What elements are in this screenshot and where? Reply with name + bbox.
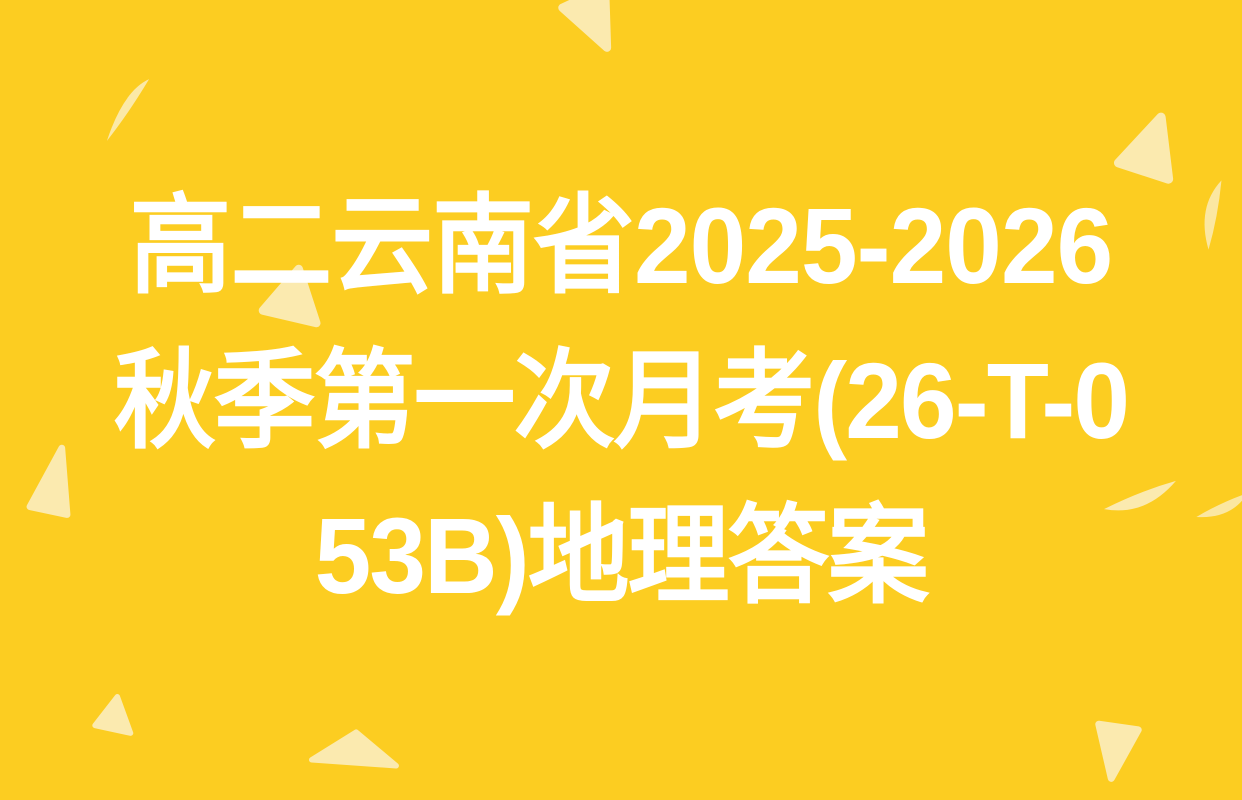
banner-title: 高二云南省2025-2026 秋季第一次月考(26-T-0 53B)地理答案	[0, 0, 1242, 800]
title-line-2: 秋季第一次月考(26-T-0	[104, 323, 1139, 478]
title-line-1: 高二云南省2025-2026	[104, 168, 1139, 323]
answer-key-banner: 高二云南省2025-2026 秋季第一次月考(26-T-0 53B)地理答案	[0, 0, 1242, 800]
title-line-3: 53B)地理答案	[104, 478, 1139, 633]
